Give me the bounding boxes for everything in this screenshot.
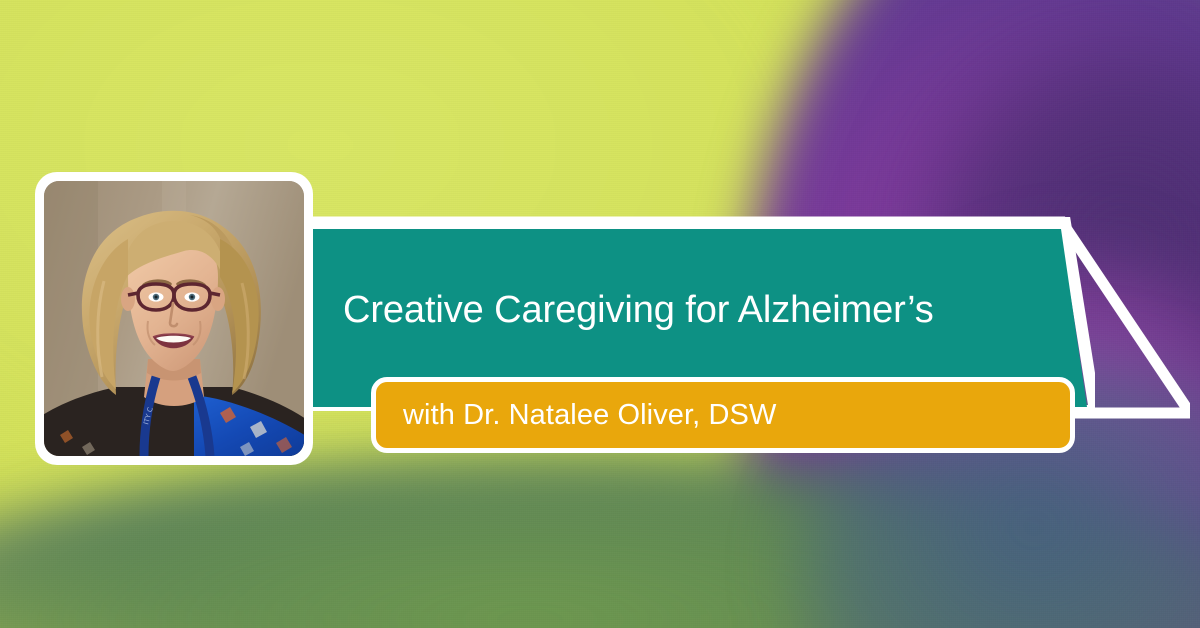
banner-subtitle: with Dr. Natalee Oliver, DSW — [403, 399, 776, 432]
subtitle-pill: with Dr. Natalee Oliver, DSW — [371, 377, 1075, 453]
event-promo-banner: Creative Caregiving for Alzheimer’s with… — [0, 0, 1200, 628]
speaker-photo-card: ITY C — [35, 172, 313, 465]
speaker-photo: ITY C — [44, 181, 304, 456]
speaker-portrait-illustration: ITY C — [44, 181, 304, 456]
banner-title: Creative Caregiving for Alzheimer’s — [343, 290, 934, 332]
